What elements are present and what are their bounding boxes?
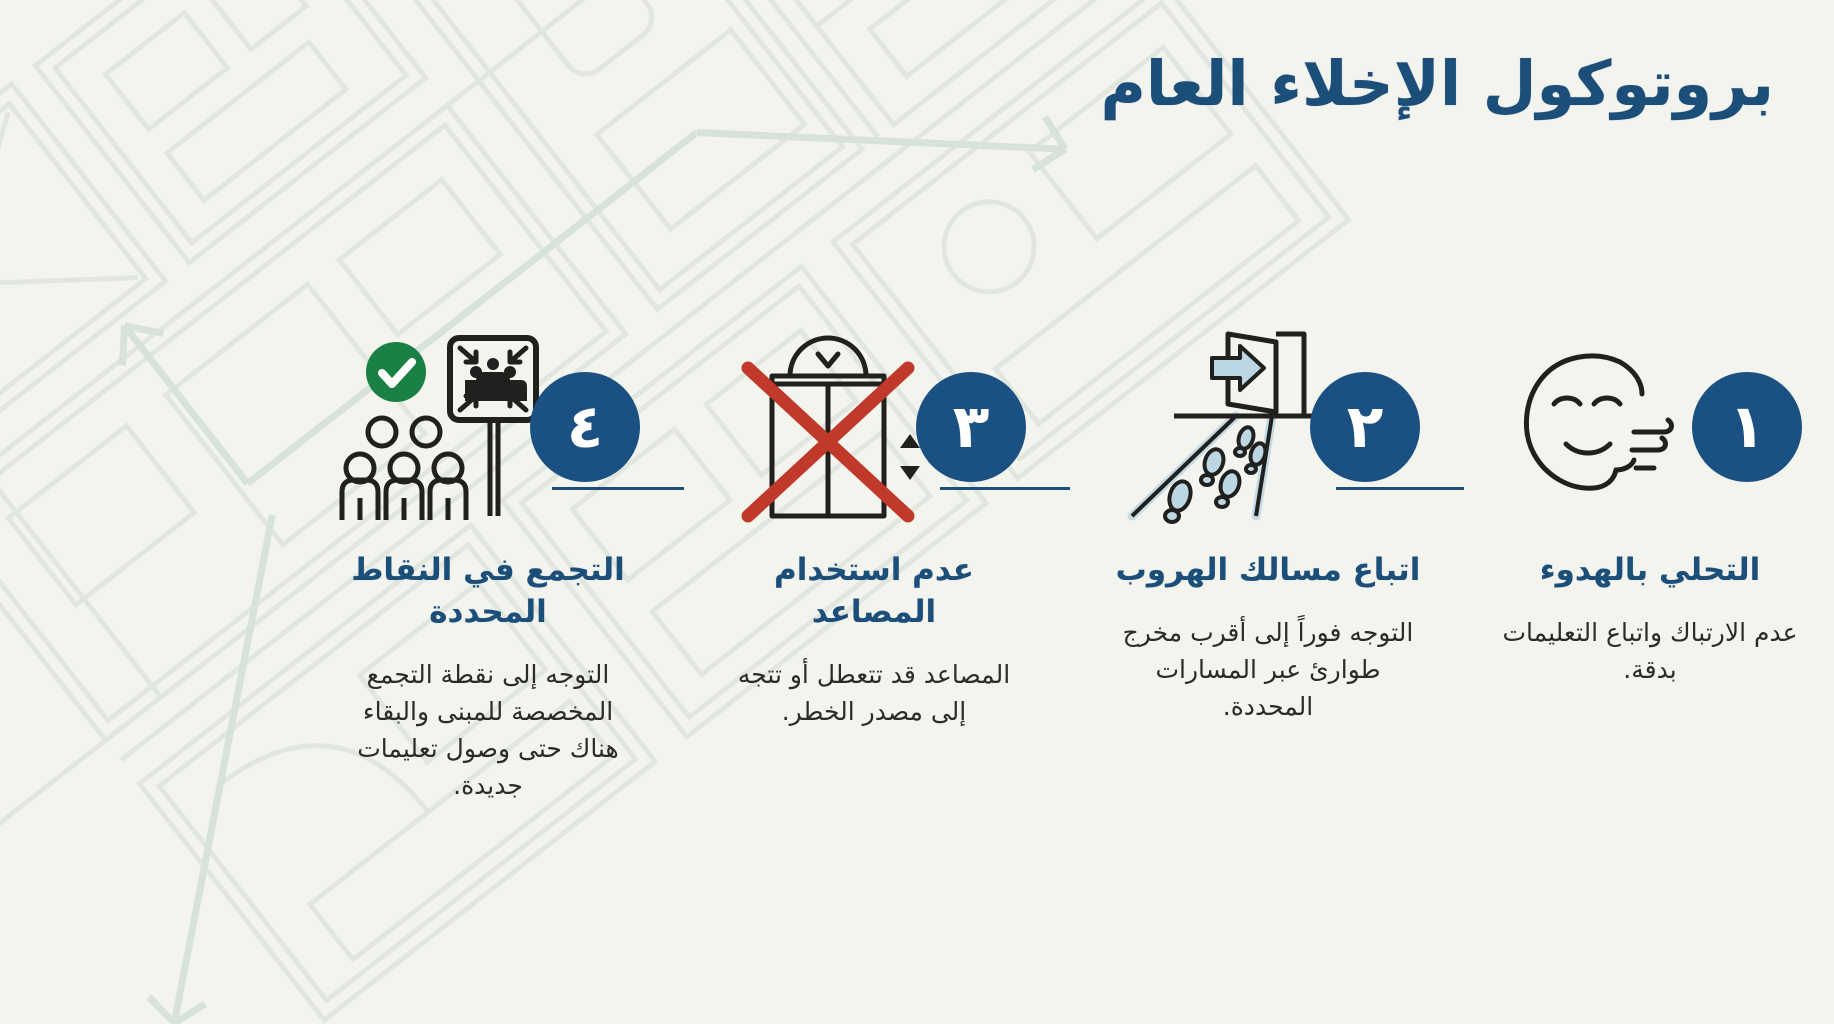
step-card-1[interactable]: ١ — [1480, 300, 1820, 688]
step-number-badge-1: ١ — [1692, 372, 1802, 482]
step-2-visual: ٢ — [1098, 300, 1438, 550]
step-card-2[interactable]: ٢ — [1098, 300, 1438, 725]
emergency-exit-footprints-icon — [1108, 320, 1328, 530]
assembly-point-icon — [334, 320, 554, 530]
step-number-badge-3: ٣ — [916, 372, 1026, 482]
step-number-badge-2: ٢ — [1310, 372, 1420, 482]
people-group — [342, 418, 466, 520]
green-check-badge — [366, 342, 426, 402]
calm-face-breathing-icon — [1482, 320, 1702, 530]
step-1-description: عدم الارتباك واتباع التعليمات بدقة. — [1480, 614, 1820, 688]
evacuation-steps-timeline: ١ — [0, 0, 1834, 1024]
step-4-title: التجمع في النقاط المحددة — [318, 550, 658, 634]
step-3-description: المصاعد قد تتعطل أو تتجه إلى مصدر الخطر. — [704, 656, 1044, 730]
step-4-visual: ٤ — [318, 300, 658, 550]
step-number-badge-4: ٤ — [530, 372, 640, 482]
step-card-4[interactable]: ٤ — [318, 300, 658, 804]
step-4-description: التوجه إلى نقطة التجمع المخصصة للمبنى وا… — [318, 656, 658, 804]
step-card-3[interactable]: ٣ — [704, 300, 1044, 730]
step-1-visual: ١ — [1480, 300, 1820, 550]
no-elevator-icon — [714, 320, 934, 530]
step-1-title: التحلي بالهدوء — [1480, 550, 1820, 592]
step-3-title: عدم استخدام المصاعد — [704, 550, 1044, 634]
step-2-description: التوجه فوراً إلى أقرب مخرج طوارئ عبر الم… — [1098, 614, 1438, 725]
step-3-visual: ٣ — [704, 300, 1044, 550]
assembly-sign — [450, 338, 536, 516]
step-2-title: اتباع مسالك الهروب — [1098, 550, 1438, 592]
